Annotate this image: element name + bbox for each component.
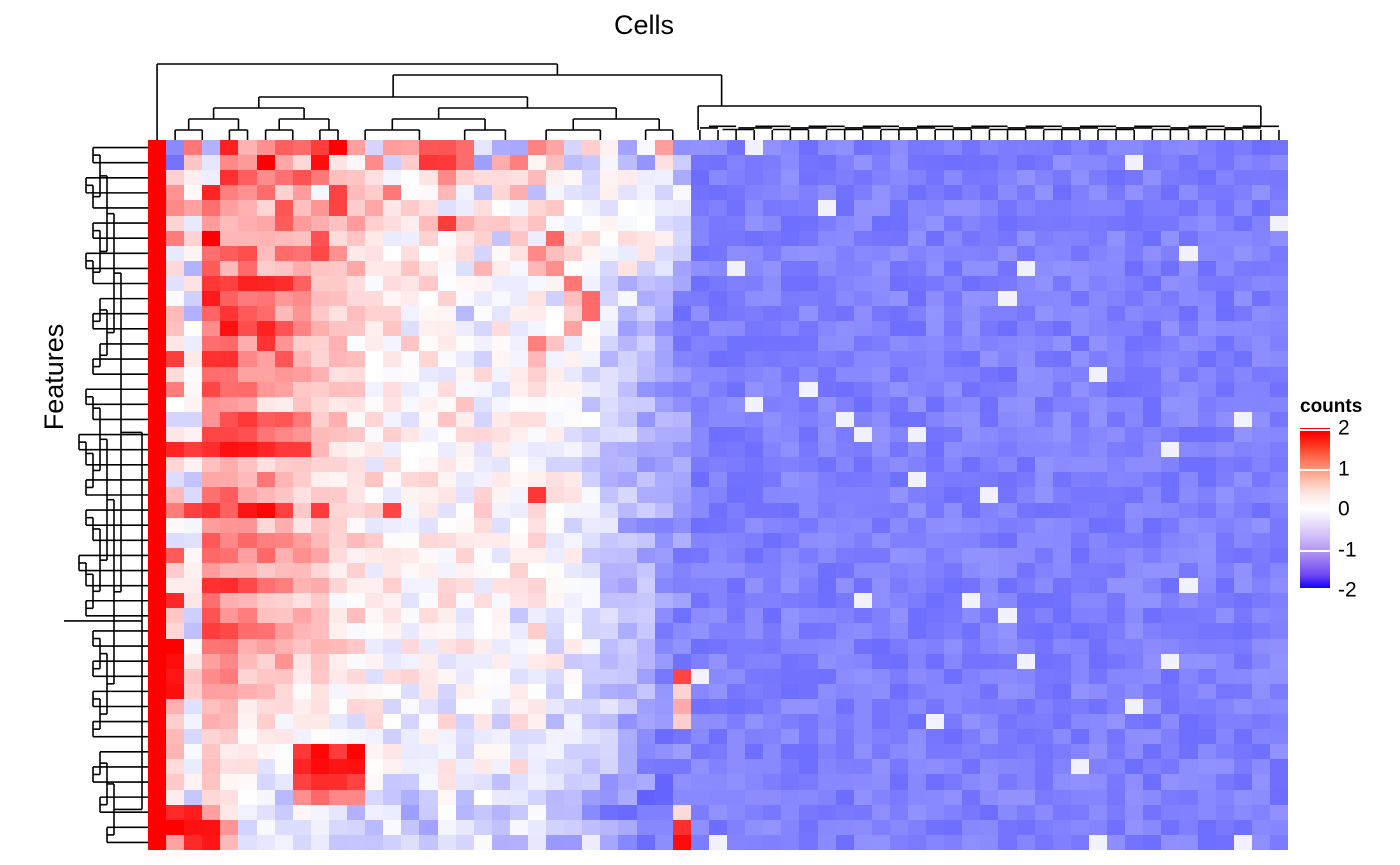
heatmap-cell — [257, 578, 275, 593]
heatmap-cell — [944, 578, 962, 593]
heatmap-cell — [275, 503, 293, 518]
heatmap-cell — [1270, 503, 1288, 518]
heatmap-cell — [419, 503, 437, 518]
heatmap-cell — [655, 623, 673, 638]
heatmap-cell — [727, 563, 745, 578]
heatmap-cell — [293, 170, 311, 185]
heatmap-cell — [1270, 276, 1288, 291]
heatmap-cell — [275, 533, 293, 548]
heatmap-cell — [872, 216, 890, 231]
heatmap-cell — [257, 397, 275, 412]
heatmap-cell — [745, 140, 763, 155]
heatmap-cell — [582, 790, 600, 805]
heatmap-cell — [456, 805, 474, 820]
heatmap-cell — [998, 246, 1016, 261]
heatmap-cell — [492, 593, 510, 608]
heatmap-cell — [275, 276, 293, 291]
heatmap-cell — [799, 503, 817, 518]
heatmap-cell — [944, 759, 962, 774]
heatmap-cell — [293, 397, 311, 412]
heatmap-cell — [166, 744, 184, 759]
heatmap-cell — [546, 714, 564, 729]
heatmap-cell — [763, 367, 781, 382]
heatmap-cell — [836, 759, 854, 774]
heatmap-cell — [872, 744, 890, 759]
heatmap-cell — [727, 548, 745, 563]
heatmap-cell — [962, 714, 980, 729]
heatmap-cell — [1053, 442, 1071, 457]
heatmap-cell — [926, 714, 944, 729]
heatmap-cell — [564, 457, 582, 472]
heatmap-cell — [836, 140, 854, 155]
heatmap-cell — [293, 382, 311, 397]
heatmap-cell — [998, 593, 1016, 608]
heatmap-cell — [1216, 744, 1234, 759]
heatmap-cell — [673, 623, 691, 638]
heatmap-cell — [564, 140, 582, 155]
heatmap-cell — [329, 774, 347, 789]
heatmap-cell — [890, 774, 908, 789]
heatmap-cell — [564, 382, 582, 397]
heatmap-cell — [202, 457, 220, 472]
heatmap-cell — [872, 442, 890, 457]
heatmap-cell — [962, 336, 980, 351]
heatmap-cell — [293, 533, 311, 548]
heatmap-cell — [637, 382, 655, 397]
heatmap-cell — [799, 472, 817, 487]
heatmap-cell — [1143, 351, 1161, 366]
heatmap-cell — [1161, 820, 1179, 835]
heatmap-cell — [365, 351, 383, 366]
heatmap-cell — [275, 185, 293, 200]
heatmap-cell — [383, 820, 401, 835]
heatmap-cell — [1017, 608, 1035, 623]
heatmap-cell — [238, 820, 256, 835]
heatmap-cell — [1161, 669, 1179, 684]
heatmap-cell — [944, 669, 962, 684]
heatmap-cell — [926, 291, 944, 306]
heatmap-cell — [854, 578, 872, 593]
heatmap-cell — [365, 382, 383, 397]
heatmap-cell — [637, 200, 655, 215]
heatmap-cell — [311, 170, 329, 185]
heatmap-cell — [401, 593, 419, 608]
heatmap-cell — [745, 548, 763, 563]
heatmap-cell — [456, 714, 474, 729]
heatmap-cell — [1107, 759, 1125, 774]
heatmap-cell — [546, 382, 564, 397]
heatmap-cell — [365, 457, 383, 472]
heatmap-cell — [962, 608, 980, 623]
heatmap-cell — [148, 578, 166, 593]
heatmap-cell — [293, 216, 311, 231]
heatmap-cell — [220, 442, 238, 457]
heatmap-cell — [329, 442, 347, 457]
heatmap-cell — [763, 684, 781, 699]
heatmap-cell — [980, 170, 998, 185]
heatmap-cell — [637, 487, 655, 502]
heatmap-cell — [1089, 835, 1107, 850]
heatmap-cell — [528, 321, 546, 336]
heatmap-cell — [492, 487, 510, 502]
heatmap-cell — [1107, 790, 1125, 805]
heatmap-cell — [1234, 306, 1252, 321]
heatmap-cell — [1017, 472, 1035, 487]
heatmap-cell — [220, 820, 238, 835]
heatmap-cell — [202, 654, 220, 669]
heatmap-cell — [890, 442, 908, 457]
heatmap-cell — [637, 155, 655, 170]
heatmap-cell — [365, 593, 383, 608]
heatmap-cell — [582, 412, 600, 427]
heatmap-cell — [691, 578, 709, 593]
heatmap-cell — [1252, 820, 1270, 835]
heatmap-cell — [166, 578, 184, 593]
heatmap-cell — [962, 261, 980, 276]
heatmap-cell — [438, 820, 456, 835]
heatmap-cell — [962, 321, 980, 336]
heatmap-cell — [456, 487, 474, 502]
heatmap-cell — [727, 351, 745, 366]
heatmap-cell — [546, 835, 564, 850]
heatmap-cell — [600, 835, 618, 850]
heatmap-cell — [1234, 231, 1252, 246]
heatmap-cell — [1035, 155, 1053, 170]
heatmap-cell — [528, 487, 546, 502]
heatmap-cell — [1234, 805, 1252, 820]
heatmap-cell — [1143, 805, 1161, 820]
heatmap-cell — [528, 548, 546, 563]
heatmap-cell — [474, 744, 492, 759]
heatmap-cell — [836, 503, 854, 518]
heatmap-cell — [727, 306, 745, 321]
heatmap-cell — [220, 367, 238, 382]
heatmap-cell — [1161, 699, 1179, 714]
heatmap-cell — [456, 306, 474, 321]
heatmap-cell — [926, 593, 944, 608]
heatmap-cell — [1179, 412, 1197, 427]
heatmap-cell — [474, 563, 492, 578]
heatmap-cell — [637, 714, 655, 729]
heatmap-cell — [1216, 790, 1234, 805]
heatmap-cell — [202, 397, 220, 412]
heatmap-cell — [365, 578, 383, 593]
heatmap-cell — [926, 548, 944, 563]
heatmap-cell — [836, 593, 854, 608]
heatmap-cell — [528, 578, 546, 593]
heatmap-cell — [781, 472, 799, 487]
heatmap-cell — [818, 427, 836, 442]
heatmap-cell — [148, 457, 166, 472]
heatmap-cell — [329, 654, 347, 669]
heatmap-cell — [257, 155, 275, 170]
heatmap-cell — [1161, 487, 1179, 502]
heatmap-cell — [618, 669, 636, 684]
heatmap-cell — [365, 442, 383, 457]
heatmap-cell — [655, 351, 673, 366]
heatmap-cell — [528, 805, 546, 820]
heatmap-cell — [582, 261, 600, 276]
heatmap-cell — [1252, 623, 1270, 638]
heatmap-cell — [329, 306, 347, 321]
heatmap-cell — [745, 185, 763, 200]
heatmap-cell — [238, 442, 256, 457]
heatmap-cell — [1017, 654, 1035, 669]
heatmap-cell — [727, 276, 745, 291]
heatmap-cell — [257, 714, 275, 729]
heatmap-cell — [311, 759, 329, 774]
heatmap-cell — [1125, 351, 1143, 366]
heatmap-cell — [618, 200, 636, 215]
heatmap-cell — [1270, 593, 1288, 608]
heatmap-cell — [908, 457, 926, 472]
heatmap-cell — [727, 412, 745, 427]
heatmap-cell — [1216, 518, 1234, 533]
heatmap-cell — [1198, 457, 1216, 472]
heatmap-cell — [1143, 608, 1161, 623]
heatmap-cell — [818, 291, 836, 306]
heatmap-cell — [528, 246, 546, 261]
heatmap-cell — [763, 185, 781, 200]
heatmap-cell — [709, 382, 727, 397]
heatmap-cell — [166, 291, 184, 306]
heatmap-cell — [166, 729, 184, 744]
heatmap-cell — [257, 185, 275, 200]
heatmap-cell — [202, 427, 220, 442]
heatmap-cell — [1216, 563, 1234, 578]
heatmap-cell — [763, 578, 781, 593]
heatmap-cell — [908, 246, 926, 261]
heatmap-cell — [492, 397, 510, 412]
heatmap-cell — [419, 472, 437, 487]
heatmap-cell — [781, 261, 799, 276]
heatmap-cell — [1125, 623, 1143, 638]
heatmap-cell — [1089, 185, 1107, 200]
heatmap-cell — [564, 714, 582, 729]
heatmap-cell — [1035, 729, 1053, 744]
heatmap-cell — [202, 231, 220, 246]
heatmap-cell — [1035, 442, 1053, 457]
heatmap-cell — [492, 790, 510, 805]
heatmap-cell — [347, 427, 365, 442]
heatmap-cell — [637, 518, 655, 533]
heatmap-cell — [1071, 774, 1089, 789]
heatmap-cell — [1270, 170, 1288, 185]
heatmap-cell — [275, 563, 293, 578]
heatmap-cell — [275, 518, 293, 533]
heatmap-cell — [1125, 427, 1143, 442]
heatmap-cell — [564, 654, 582, 669]
heatmap-cell — [1053, 563, 1071, 578]
heatmap-cell — [618, 412, 636, 427]
heatmap-cell — [836, 412, 854, 427]
heatmap-cell — [1089, 306, 1107, 321]
heatmap-cell — [600, 306, 618, 321]
heatmap-cell — [564, 321, 582, 336]
heatmap-cell — [202, 774, 220, 789]
heatmap-cell — [673, 185, 691, 200]
heatmap-cell — [1143, 774, 1161, 789]
heatmap-cell — [1216, 412, 1234, 427]
heatmap-cell — [347, 487, 365, 502]
heatmap-cell — [1107, 306, 1125, 321]
heatmap-cell — [600, 261, 618, 276]
heatmap-cell — [564, 276, 582, 291]
heatmap-cell — [1198, 774, 1216, 789]
heatmap-cell — [818, 790, 836, 805]
heatmap-cell — [184, 654, 202, 669]
heatmap-cell — [1270, 185, 1288, 200]
heatmap-cell — [854, 231, 872, 246]
heatmap-cell — [202, 472, 220, 487]
heatmap-cell — [365, 684, 383, 699]
heatmap-cell — [980, 518, 998, 533]
heatmap-cell — [383, 805, 401, 820]
heatmap-cell — [293, 321, 311, 336]
heatmap-cell — [799, 714, 817, 729]
heatmap-cell — [1198, 155, 1216, 170]
heatmap-cell — [401, 563, 419, 578]
heatmap-figure: Cells Features counts 210-1-2 — [0, 0, 1400, 865]
heatmap-cell — [492, 518, 510, 533]
heatmap-cell — [709, 155, 727, 170]
heatmap-cell — [1107, 336, 1125, 351]
heatmap-cell — [383, 397, 401, 412]
heatmap-cell — [1270, 351, 1288, 366]
heatmap-cell — [836, 729, 854, 744]
heatmap-cell — [618, 593, 636, 608]
heatmap-cell — [438, 518, 456, 533]
heatmap-cell — [854, 442, 872, 457]
heatmap-cell — [401, 472, 419, 487]
heatmap-cell — [202, 563, 220, 578]
heatmap-cell — [618, 351, 636, 366]
heatmap-cell — [962, 518, 980, 533]
heatmap-cell — [456, 216, 474, 231]
heatmap-cell — [691, 608, 709, 623]
heatmap-cell — [456, 457, 474, 472]
heatmap-cell — [311, 578, 329, 593]
heatmap-cell — [745, 623, 763, 638]
legend-tick-label: -1 — [1338, 539, 1357, 560]
heatmap-cell — [419, 442, 437, 457]
heatmap-cell — [1035, 518, 1053, 533]
heatmap-cell — [1234, 170, 1252, 185]
heatmap-cell — [166, 276, 184, 291]
heatmap-cell — [329, 548, 347, 563]
heatmap-cell — [1270, 714, 1288, 729]
heatmap-cell — [148, 472, 166, 487]
heatmap-cell — [998, 306, 1016, 321]
heatmap-cell — [1179, 200, 1197, 215]
heatmap-cell — [637, 427, 655, 442]
heatmap-cell — [1179, 306, 1197, 321]
heatmap-cell — [781, 684, 799, 699]
heatmap-cell — [637, 503, 655, 518]
heatmap-cell — [329, 623, 347, 638]
heatmap-cell — [220, 246, 238, 261]
heatmap-cell — [293, 412, 311, 427]
heatmap-cell — [962, 548, 980, 563]
heatmap-cell — [691, 669, 709, 684]
heatmap-cell — [763, 548, 781, 563]
heatmap-cell — [1234, 533, 1252, 548]
heatmap-cell — [818, 518, 836, 533]
heatmap-cell — [383, 382, 401, 397]
heatmap-cell — [962, 654, 980, 669]
heatmap-cell — [908, 487, 926, 502]
heatmap-cell — [293, 487, 311, 502]
heatmap-cell — [148, 291, 166, 306]
heatmap-cell — [220, 699, 238, 714]
heatmap-cell — [709, 246, 727, 261]
heatmap-cell — [998, 518, 1016, 533]
heatmap-cell — [293, 503, 311, 518]
heatmap-cell — [1252, 472, 1270, 487]
heatmap-cell — [727, 291, 745, 306]
heatmap-cell — [673, 306, 691, 321]
heatmap-cell — [220, 170, 238, 185]
heatmap-cell — [836, 548, 854, 563]
heatmap-cell — [528, 790, 546, 805]
heatmap-cell — [474, 246, 492, 261]
heatmap-grid[interactable] — [148, 140, 1288, 850]
heatmap-cell — [727, 699, 745, 714]
heatmap-cell — [311, 563, 329, 578]
heatmap-cell — [582, 336, 600, 351]
heatmap-cell — [275, 608, 293, 623]
heatmap-cell — [456, 185, 474, 200]
heatmap-cell — [383, 548, 401, 563]
heatmap-cell — [238, 790, 256, 805]
heatmap-cell — [799, 699, 817, 714]
heatmap-cell — [1107, 593, 1125, 608]
heatmap-cell — [618, 835, 636, 850]
heatmap-cell — [1035, 246, 1053, 261]
heatmap-cell — [872, 367, 890, 382]
heatmap-cell — [438, 759, 456, 774]
heatmap-cell — [998, 276, 1016, 291]
heatmap-cell — [655, 216, 673, 231]
heatmap-cell — [202, 820, 220, 835]
heatmap-cell — [293, 518, 311, 533]
heatmap-cell — [962, 246, 980, 261]
heatmap-cell — [1179, 654, 1197, 669]
heatmap-cell — [329, 321, 347, 336]
heatmap-cell — [709, 261, 727, 276]
heatmap-cell — [1143, 744, 1161, 759]
heatmap-cell — [763, 140, 781, 155]
heatmap-cell — [1161, 503, 1179, 518]
heatmap-cell — [184, 533, 202, 548]
heatmap-cell — [582, 321, 600, 336]
heatmap-cell — [365, 427, 383, 442]
heatmap-cell — [456, 835, 474, 850]
heatmap-cell — [419, 835, 437, 850]
heatmap-cell — [890, 790, 908, 805]
heatmap-cell — [1107, 744, 1125, 759]
heatmap-cell — [1198, 805, 1216, 820]
heatmap-cell — [347, 261, 365, 276]
heatmap-cell — [1252, 261, 1270, 276]
heatmap-cell — [1161, 336, 1179, 351]
heatmap-cell — [238, 835, 256, 850]
heatmap-cell — [184, 805, 202, 820]
heatmap-cell — [1179, 714, 1197, 729]
heatmap-cell — [311, 397, 329, 412]
heatmap-cell — [275, 216, 293, 231]
heatmap-cell — [365, 835, 383, 850]
